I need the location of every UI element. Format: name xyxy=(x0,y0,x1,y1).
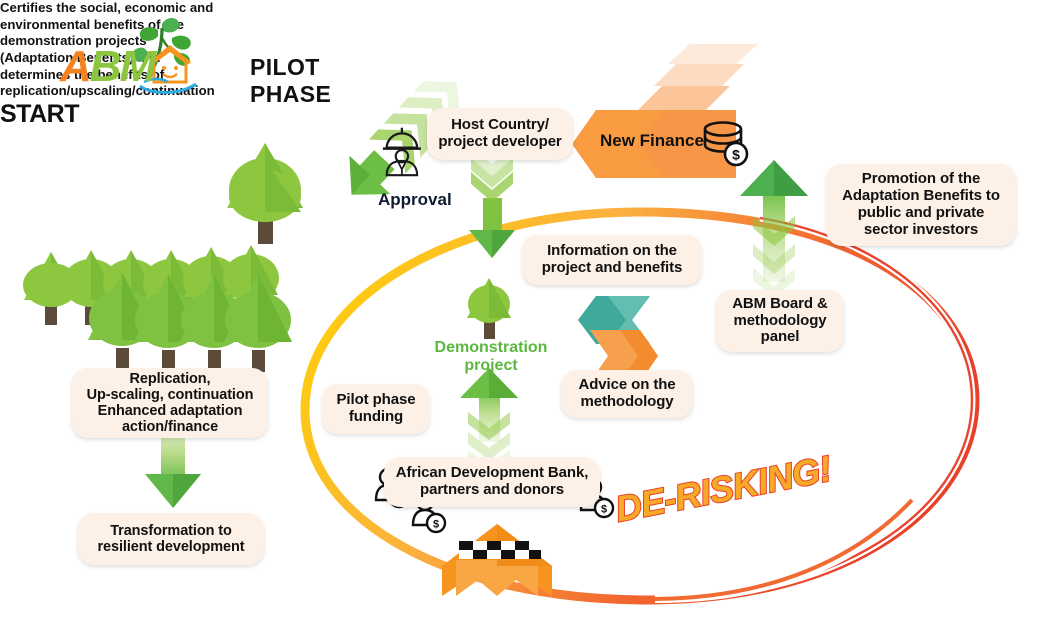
to-information-arrow xyxy=(469,146,515,258)
node-information-line1: Information on the xyxy=(542,243,683,260)
svg-text:$: $ xyxy=(601,504,607,516)
node-pilot-funding-line1: Pilot phase xyxy=(337,392,416,409)
node-replication-line3: Enhanced adaptation xyxy=(87,403,254,419)
label-demonstration-project: Demonstration project xyxy=(432,339,550,374)
label-demonstration-line1: Demonstration xyxy=(435,339,548,356)
node-host-country[interactable]: Host Country/project developer xyxy=(427,108,573,160)
tree-icon xyxy=(227,143,303,244)
node-abm-board-line2: methodology xyxy=(732,313,828,330)
tree-icon-demo xyxy=(467,278,511,339)
checkered-flag-icon xyxy=(459,541,541,559)
node-transformation[interactable]: Transformation toresilient development xyxy=(78,513,264,565)
node-african-development-bank[interactable]: African Development Bank,partners and do… xyxy=(384,457,600,507)
node-host-country-line1: Host Country/ xyxy=(438,117,561,134)
svg-text:$: $ xyxy=(732,147,740,163)
start-arrow xyxy=(442,524,552,596)
label-new-finance: New Finance xyxy=(600,131,704,151)
logo-letter-a: A xyxy=(60,42,90,91)
node-advice-line2: methodology xyxy=(578,394,675,411)
logo-letter-b: B xyxy=(90,42,120,91)
node-transformation-line2: resilient development xyxy=(98,539,245,555)
svg-text:$: $ xyxy=(433,519,439,531)
node-promotion-line2: Adaptation Benefits to xyxy=(842,188,1000,205)
label-approval: Approval xyxy=(378,190,452,210)
node-promotion-line1: Promotion of the xyxy=(842,171,1000,188)
node-host-country-line2: project developer xyxy=(438,134,561,151)
node-abm-board-line1: ABM Board & xyxy=(732,296,828,313)
node-pilot-funding[interactable]: Pilot phasefunding xyxy=(322,384,430,434)
node-advice[interactable]: Advice on themethodology xyxy=(561,370,693,418)
node-information[interactable]: Information on theproject and benefits xyxy=(522,235,702,285)
logo-wordmark: ABM xyxy=(60,42,154,92)
node-adb-line1: African Development Bank, xyxy=(396,465,589,482)
node-pilot-funding-line2: funding xyxy=(337,409,416,426)
node-replication-line4: action/finance xyxy=(87,419,254,435)
node-transformation-line1: Transformation to xyxy=(98,523,245,539)
abm-logo: ABM PILOT PHASE xyxy=(60,20,380,86)
node-abm-board[interactable]: ABM Board &methodologypanel xyxy=(716,290,844,352)
logo-letter-m: M xyxy=(120,42,155,91)
label-demonstration-line2: project xyxy=(464,357,517,374)
diagram-canvas: $ $ $ $ xyxy=(0,0,1053,637)
node-promotion-line4: sector investors xyxy=(842,222,1000,239)
node-promotion[interactable]: Promotion of theAdaptation Benefits topu… xyxy=(826,164,1016,246)
node-information-line2: project and benefits xyxy=(542,260,683,277)
node-advice-line1: Advice on the xyxy=(578,377,675,394)
node-replication-line1: Replication, xyxy=(87,371,254,387)
node-promotion-line3: public and private xyxy=(842,205,1000,222)
forest-cluster-icon xyxy=(23,245,292,372)
node-abm-board-line3: panel xyxy=(732,329,828,346)
page-title: PILOT PHASE xyxy=(250,54,380,108)
node-replication-line2: Up-scaling, continuation xyxy=(87,387,254,403)
node-adb-line2: partners and donors xyxy=(396,482,589,499)
node-replication[interactable]: Replication,Up-scaling, continuationEnha… xyxy=(72,368,268,438)
